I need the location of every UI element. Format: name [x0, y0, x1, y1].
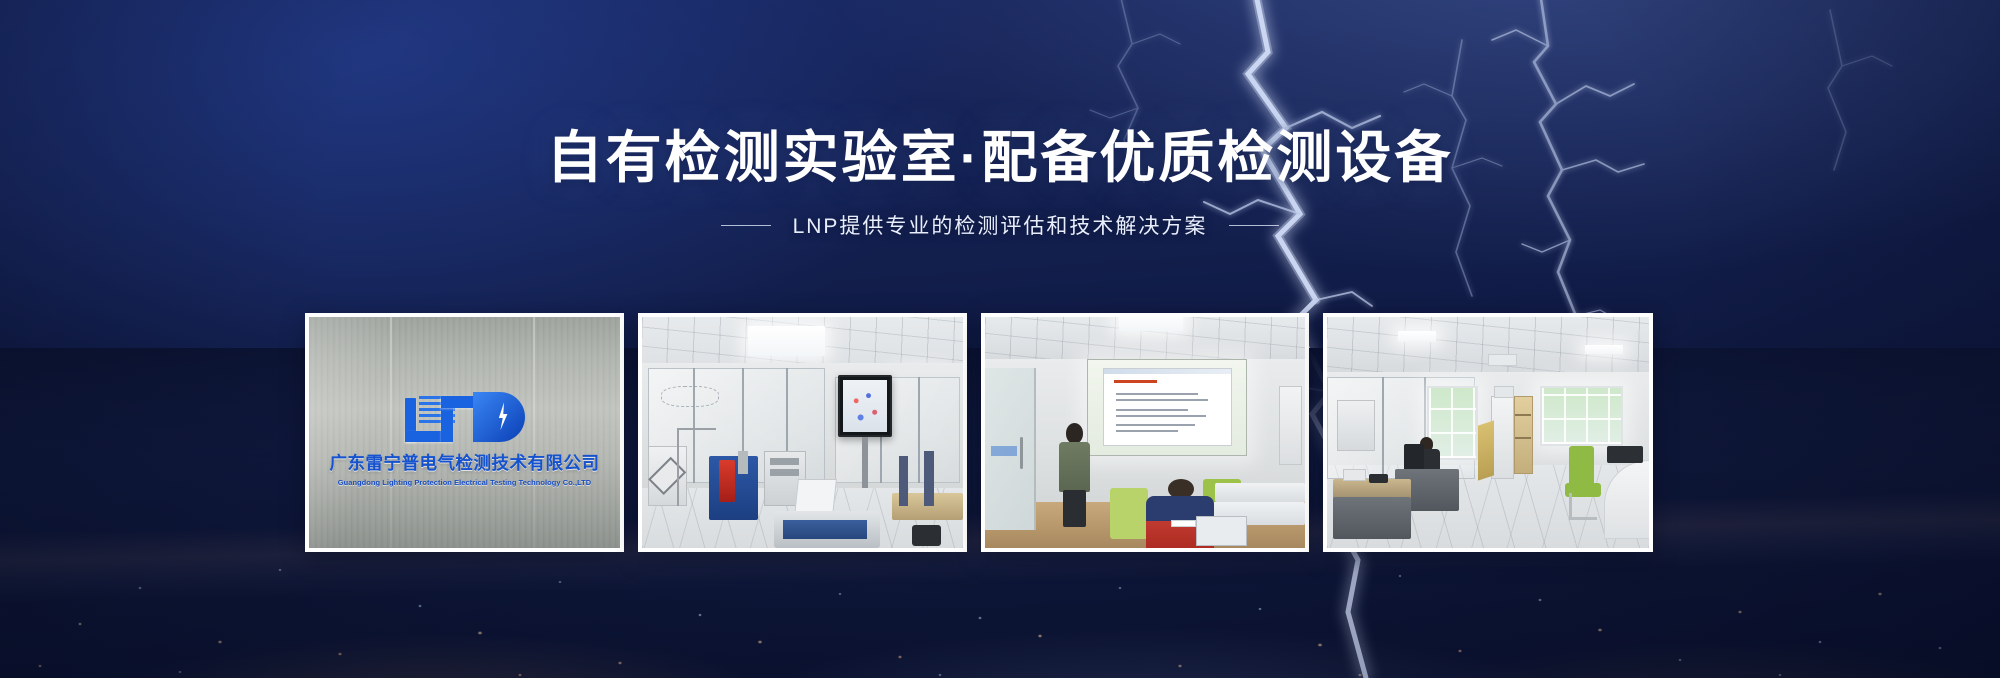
- projection-screen: [1087, 359, 1247, 456]
- whiteboard: [1279, 386, 1301, 465]
- slide-line: [1116, 393, 1198, 395]
- chair: [1110, 488, 1148, 539]
- ceiling-light: [748, 326, 825, 356]
- paper-stack: [1343, 469, 1366, 481]
- document: [1171, 520, 1197, 527]
- ceiling-light: [1119, 317, 1183, 331]
- testing-laboratory-photo: [642, 317, 963, 548]
- chair-frame: [1569, 493, 1598, 521]
- air-conditioner: [1494, 386, 1513, 398]
- probe: [738, 451, 748, 474]
- rule-left-icon: [721, 225, 771, 226]
- mullion: [918, 377, 920, 483]
- banner-subtitle: LNP提供专业的检测评估和技术解决方案: [793, 210, 1208, 240]
- desk-phone: [1369, 474, 1388, 483]
- slide-line: [1116, 399, 1208, 401]
- lnp-logo-icon: [401, 386, 529, 444]
- banner-subtitle-row: LNP提供专业的检测评估和技术解决方案: [721, 210, 1280, 240]
- lab-room: [642, 317, 963, 548]
- ceiling-light: [1585, 345, 1624, 354]
- equipment-pole: [899, 456, 909, 507]
- bookshelf: [1514, 396, 1533, 475]
- signage-content: 广东雷宁普电气检测技术有限公司 Guangdong Lighting Prote…: [309, 386, 620, 487]
- shelf-line: [1515, 437, 1531, 439]
- gallery-card-company-signage[interactable]: 广东雷宁普电气检测技术有限公司 Guangdong Lighting Prote…: [305, 313, 624, 552]
- server-cabinet: [1491, 396, 1514, 479]
- slide-header: [1104, 369, 1232, 374]
- monitor-screen: [843, 380, 888, 432]
- slide-line: [1116, 415, 1205, 417]
- support-rod: [677, 428, 679, 507]
- rule-right-icon: [1229, 225, 1279, 226]
- projected-slide: [1103, 368, 1233, 446]
- gallery-card-office-area[interactable]: [1323, 313, 1653, 552]
- office-area-photo: [1327, 317, 1649, 548]
- standing-presenter: [1055, 423, 1093, 525]
- ceiling-vent: [1488, 354, 1517, 366]
- stool: [912, 525, 941, 546]
- training-room-photo: [985, 317, 1305, 548]
- wall-monitor: [838, 375, 893, 437]
- wall-marking: [661, 386, 719, 407]
- monitor-stem: [862, 437, 868, 488]
- hero-banner: 自有检测实验室·配备优质检测设备 LNP提供专业的检测评估和技术解决方案: [0, 0, 2000, 678]
- console-front: [783, 520, 866, 538]
- training-room: [985, 317, 1305, 548]
- equipment-pole: [924, 451, 934, 506]
- ceiling-light: [1398, 331, 1437, 343]
- slide-line: [1116, 424, 1195, 426]
- company-signage-photo: 广东雷宁普电气检测技术有限公司 Guangdong Lighting Prote…: [309, 317, 620, 548]
- laptop: [1196, 516, 1247, 546]
- support-rail: [677, 428, 716, 430]
- door-handle: [1020, 437, 1023, 469]
- slide-line: [1116, 430, 1177, 432]
- conference-table: [1215, 483, 1305, 501]
- mullion: [1382, 377, 1384, 479]
- photo-gallery: 广东雷宁普电气检测技术有限公司 Guangdong Lighting Prote…: [305, 313, 1648, 552]
- shelf-line: [1515, 414, 1531, 416]
- stair-rail: [1478, 421, 1494, 482]
- door-sticker: [991, 446, 1017, 455]
- hv-insulator: [719, 460, 735, 502]
- office-room: [1327, 317, 1649, 548]
- exterior-window: [1540, 386, 1624, 446]
- gallery-card-testing-laboratory[interactable]: [638, 313, 967, 552]
- slide-line: [1116, 409, 1187, 411]
- slide-title: [1114, 380, 1157, 383]
- lab-equipment: [1337, 400, 1376, 451]
- side-desk-body: [1333, 497, 1410, 539]
- company-name-en: Guangdong Lighting Protection Electrical…: [338, 478, 591, 487]
- company-name-cn: 广东雷宁普电气检测技术有限公司: [330, 450, 600, 475]
- banner-title: 自有检测实验室·配备优质检测设备: [547, 128, 1454, 188]
- instrument-panel: [770, 469, 799, 476]
- monitor: [1404, 444, 1423, 472]
- mullion: [693, 368, 695, 484]
- gallery-card-training-room[interactable]: [981, 313, 1309, 552]
- instrument-panel: [770, 458, 799, 465]
- counter-top-items: [1607, 446, 1642, 462]
